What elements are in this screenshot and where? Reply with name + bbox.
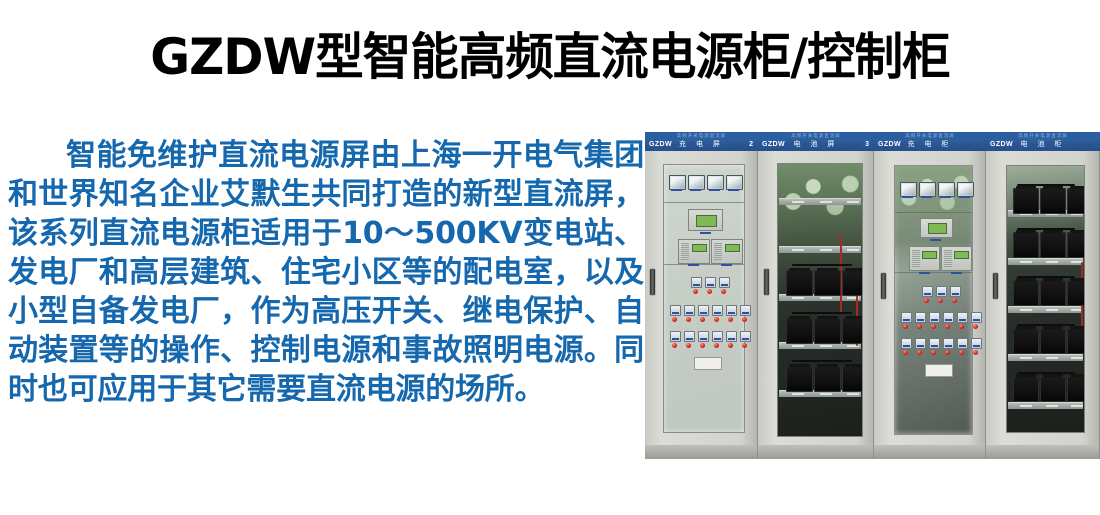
- breaker-switch: [684, 331, 695, 342]
- battery-shelf: [1008, 258, 1083, 265]
- monitor-label: [700, 232, 711, 234]
- slide-root: GZDW型智能高频直流电源柜/控制柜 智能免维护直流电源屏由上海一开电气集团和世…: [0, 0, 1100, 515]
- battery-unit: [842, 270, 863, 296]
- panel-meter: [726, 175, 743, 190]
- shelf-label: [1020, 309, 1032, 311]
- shelf-label: [792, 393, 804, 395]
- indicator-led: [728, 317, 733, 322]
- battery-unit: [1040, 328, 1066, 354]
- cabinet-4: 高频开关电源直流屏 GZDW 电 池 柜: [986, 132, 1100, 459]
- battery-unit: [1067, 280, 1085, 306]
- indicator-led: [742, 343, 747, 348]
- panel-meter: [669, 175, 686, 190]
- shelf-label: [792, 249, 804, 251]
- indicator-led: [903, 350, 908, 355]
- indicator-led: [931, 350, 936, 355]
- nameplate: [694, 357, 722, 370]
- battery-unit: [842, 366, 863, 392]
- cabinet-2-name: 电 池 屏: [758, 140, 874, 149]
- module-label: [688, 264, 699, 266]
- indicator-led: [952, 298, 957, 303]
- indicator-led: [714, 343, 719, 348]
- nameplate: [925, 364, 953, 377]
- rectifier-module: [678, 239, 710, 264]
- breaker-switch: [712, 305, 723, 316]
- cabinet-2-banner: 高频开关电源直流屏: [758, 132, 874, 139]
- indicator-led: [721, 289, 726, 294]
- indicator-led: [700, 343, 705, 348]
- cabinet-1-number: 2: [749, 140, 753, 149]
- cabinet-4-name: 电 池 柜: [986, 140, 1100, 149]
- battery-unit: [1013, 328, 1039, 354]
- shelf-label: [820, 345, 832, 347]
- module-label: [951, 272, 962, 274]
- battery-unit: [1040, 280, 1066, 306]
- battery-shelf: [779, 198, 861, 205]
- cabinet-2-glass-door: [777, 163, 863, 437]
- indicator-led: [917, 350, 922, 355]
- cabinet-3-handle: [881, 273, 886, 299]
- battery-unit: [786, 318, 813, 344]
- indicator-led: [945, 350, 950, 355]
- breaker-switch: [726, 305, 737, 316]
- breaker-switch: [698, 331, 709, 342]
- cabinet-3-banner: 高频开关电源直流屏: [874, 132, 986, 139]
- cabinet-4-glass-door: [1006, 165, 1085, 433]
- indicator-led: [959, 324, 964, 329]
- battery-unit: [814, 318, 841, 344]
- cabinet-3-header: 高频开关电源直流屏 GZDW 充 电 柜: [874, 132, 986, 152]
- breaker-switch: [943, 312, 954, 323]
- battery-cable: [792, 312, 852, 314]
- monitor-label: [930, 239, 941, 241]
- battery-shelf: [1008, 402, 1083, 409]
- battery-unit: [1013, 280, 1039, 306]
- module-display: [692, 244, 707, 252]
- battery-unit: [814, 270, 841, 296]
- battery-unit: [1067, 376, 1085, 402]
- rectifier-module: [909, 246, 940, 271]
- door-divider: [664, 264, 744, 265]
- indicator-led: [693, 289, 698, 294]
- monitor-unit: [920, 218, 953, 238]
- battery-unit: [1013, 376, 1039, 402]
- indicator-led: [686, 317, 691, 322]
- meter-label: [709, 189, 720, 191]
- shelf-label: [820, 201, 832, 203]
- door-divider: [664, 202, 744, 203]
- panel-meter: [938, 182, 955, 197]
- panel-meter: [707, 175, 724, 190]
- breaker-switch: [950, 286, 961, 297]
- meter-label: [671, 189, 682, 191]
- monitor-display: [928, 223, 947, 234]
- cabinet-3-name: 充 电 柜: [874, 140, 986, 149]
- cabinet-4-plinth: [986, 445, 1099, 459]
- cabinet-1-handle: [650, 269, 655, 295]
- breaker-switch: [971, 312, 982, 323]
- indicator-led: [700, 317, 705, 322]
- battery-unit: [1067, 232, 1085, 258]
- cabinet-4-header: 高频开关电源直流屏 GZDW 电 池 柜: [986, 132, 1100, 152]
- module-display: [922, 251, 937, 259]
- breaker-switch: [957, 338, 968, 349]
- battery-unit: [842, 318, 863, 344]
- indicator-led: [707, 289, 712, 294]
- battery-unit: [1067, 328, 1085, 354]
- breaker-switch: [971, 338, 982, 349]
- indicator-led: [728, 343, 733, 348]
- description-paragraph: 智能免维护直流电源屏由上海一开电气集团和世界知名企业艾默生共同打造的新型直流屏，…: [8, 136, 644, 409]
- cabinet-3-body: [874, 151, 986, 459]
- shelf-label: [792, 297, 804, 299]
- breaker-switch: [929, 312, 940, 323]
- module-label: [919, 272, 930, 274]
- meter-label: [940, 196, 951, 198]
- cabinet-2-plinth: [758, 445, 873, 459]
- breaker-switch: [726, 331, 737, 342]
- cabinet-1-banner: 高频开关电源直流屏: [645, 132, 758, 139]
- indicator-led: [945, 324, 950, 329]
- battery-unit: [1040, 232, 1066, 258]
- module-display: [725, 244, 740, 252]
- module-label: [721, 264, 732, 266]
- shelf-label: [1046, 357, 1058, 359]
- indicator-led: [973, 324, 978, 329]
- breaker-switch: [740, 305, 751, 316]
- cabinet-1-plinth: [645, 445, 757, 459]
- indicator-led: [959, 350, 964, 355]
- breaker-switch: [929, 338, 940, 349]
- cabinet-1-header: 高频开关电源直流屏 GZDW 充 电 屏 2: [645, 132, 758, 152]
- shelf-label: [1020, 357, 1032, 359]
- breaker-switch: [691, 277, 702, 288]
- shelf-label: [1046, 261, 1058, 263]
- cabinet-4-banner: 高频开关电源直流屏: [986, 132, 1100, 139]
- battery-shelf: [1008, 306, 1083, 313]
- meter-label: [959, 196, 970, 198]
- indicator-led: [672, 343, 677, 348]
- battery-shelf: [779, 246, 861, 253]
- module-display: [954, 251, 969, 259]
- shelf-label: [1071, 357, 1083, 359]
- indicator-led: [938, 298, 943, 303]
- breaker-switch: [712, 331, 723, 342]
- shelf-label: [1046, 309, 1058, 311]
- cabinet-3-plinth: [874, 445, 985, 459]
- shelf-label: [792, 201, 804, 203]
- panel-meter: [900, 182, 917, 197]
- shelf-label: [847, 249, 859, 251]
- breaker-switch: [684, 305, 695, 316]
- breaker-switch: [698, 305, 709, 316]
- cabinet-4-handle: [993, 273, 998, 299]
- shelf-label: [1046, 405, 1058, 407]
- breaker-switch: [901, 312, 912, 323]
- cabinet-4-body: [986, 151, 1100, 459]
- monitor-display: [696, 215, 717, 227]
- meter-label: [690, 189, 701, 191]
- cabinet-1-door: [663, 164, 745, 433]
- battery-unit: [1013, 232, 1039, 258]
- breaker-switch: [943, 338, 954, 349]
- indicator-led: [924, 298, 929, 303]
- cabinet-1: 高频开关电源直流屏 GZDW 充 电 屏 2: [645, 132, 758, 459]
- module-vent: [944, 250, 952, 267]
- meter-label: [921, 196, 932, 198]
- panel-meter: [957, 182, 974, 197]
- breaker-switch: [670, 331, 681, 342]
- cabinet-2-handle: [764, 269, 769, 295]
- breaker-switch: [705, 277, 716, 288]
- module-vent: [681, 243, 689, 260]
- indicator-led: [973, 350, 978, 355]
- panel-meter: [688, 175, 705, 190]
- cabinet-3: 高频开关电源直流屏 GZDW 充 电 柜: [874, 132, 986, 459]
- rectifier-module: [941, 246, 972, 271]
- battery-unit: [1040, 188, 1066, 214]
- shelf-label: [1071, 405, 1083, 407]
- shelf-label: [820, 297, 832, 299]
- indicator-led: [917, 324, 922, 329]
- breaker-switch: [936, 286, 947, 297]
- battery-unit: [1013, 188, 1039, 214]
- monitor-unit: [688, 209, 723, 231]
- rectifier-module: [711, 239, 743, 264]
- battery-unit: [814, 366, 841, 392]
- battery-unit: [1067, 188, 1085, 214]
- indicator-led: [686, 343, 691, 348]
- breaker-switch: [670, 305, 681, 316]
- breaker-switch: [901, 338, 912, 349]
- cabinet-3-door: [894, 165, 973, 435]
- battery-cable: [792, 360, 852, 362]
- breaker-switch: [915, 312, 926, 323]
- cabinet-1-body: [645, 151, 758, 459]
- module-vent: [714, 243, 722, 260]
- cabinet-2: 高频开关电源直流屏 GZDW 电 池 屏 3: [758, 132, 874, 459]
- breaker-switch: [719, 277, 730, 288]
- product-photo: 高频开关电源直流屏 GZDW 充 电 屏 2: [645, 132, 1100, 459]
- indicator-led: [903, 324, 908, 329]
- panel-meter: [919, 182, 936, 197]
- battery-shelf: [1008, 354, 1083, 361]
- shelf-label: [792, 345, 804, 347]
- door-divider: [895, 212, 972, 213]
- shelf-label: [820, 249, 832, 251]
- breaker-switch: [740, 331, 751, 342]
- indicator-led: [742, 317, 747, 322]
- battery-unit: [786, 366, 813, 392]
- battery-unit: [786, 270, 813, 296]
- shelf-label: [847, 201, 859, 203]
- cabinet-2-body: [758, 151, 874, 459]
- indicator-led: [931, 324, 936, 329]
- breaker-switch: [922, 286, 933, 297]
- breaker-switch: [957, 312, 968, 323]
- meter-label: [902, 196, 913, 198]
- shelf-label: [847, 393, 859, 395]
- shelf-label: [1020, 261, 1032, 263]
- indicator-led: [714, 317, 719, 322]
- module-vent: [912, 250, 920, 267]
- battery-unit: [1040, 376, 1066, 402]
- breaker-switch: [915, 338, 926, 349]
- page-title: GZDW型智能高频直流电源柜/控制柜: [17, 26, 1084, 88]
- cabinet-2-header: 高频开关电源直流屏 GZDW 电 池 屏 3: [758, 132, 874, 152]
- shelf-label: [820, 393, 832, 395]
- meter-label: [728, 189, 739, 191]
- shelf-label: [1020, 405, 1032, 407]
- battery-cable: [792, 264, 852, 266]
- indicator-led: [672, 317, 677, 322]
- cabinet-1-name: 充 电 屏: [645, 140, 758, 149]
- cabinet-2-number: 3: [865, 140, 869, 149]
